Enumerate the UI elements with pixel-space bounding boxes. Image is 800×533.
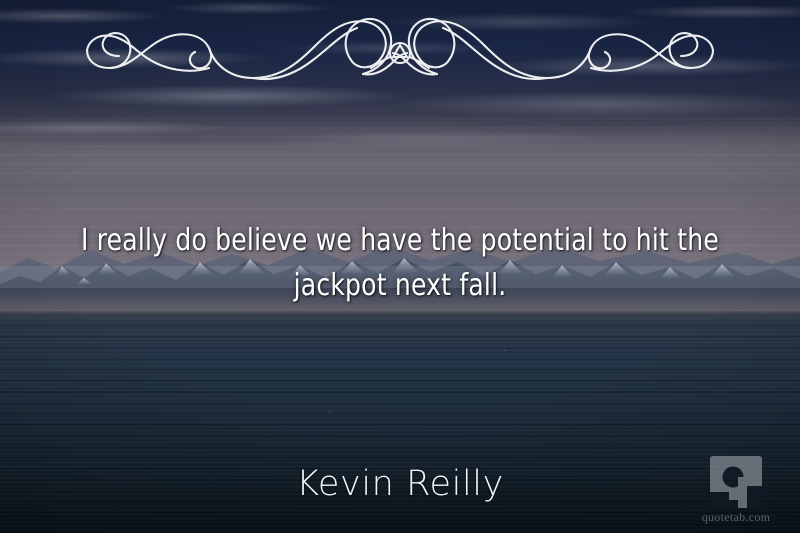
watermark-site-label[interactable]: quotetab.com xyxy=(688,510,784,525)
quote-text: I really do believe we have the potentia… xyxy=(65,218,735,308)
quotetab-logo-icon[interactable] xyxy=(710,456,762,508)
decorative-swirl-flourish-icon xyxy=(85,12,715,90)
watermark[interactable]: quotetab.com xyxy=(688,456,784,525)
quote-image-card: I really do believe we have the potentia… xyxy=(0,0,800,533)
quote-author: Kevin Reilly xyxy=(0,464,800,504)
